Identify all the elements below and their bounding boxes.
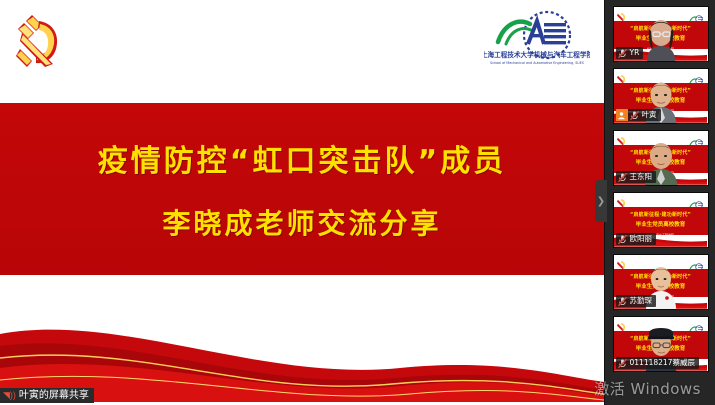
participant-name: 苏勤琛	[629, 295, 657, 307]
participant-tile[interactable]: “启航新征程·建功新时代” 毕业生党员离校教育 机械与汽车工程学院 欧阳丽	[613, 192, 709, 248]
host-badge-icon	[616, 109, 628, 121]
school-logo-icon	[689, 134, 705, 142]
screen-share-label: ◥)) 叶寅的屏幕共享	[0, 388, 94, 403]
collapse-filmstrip-button[interactable]: ❯	[595, 180, 607, 222]
page-subtitle: 李晓成老师交流分享	[162, 202, 441, 242]
participant-name-bar: 011118217蔡威辰	[616, 357, 699, 369]
mic-muted-icon	[616, 295, 629, 307]
svg-text:School of Mechanical and Autom: School of Mechanical and Automotive Engi…	[490, 61, 584, 65]
shared-screen[interactable]: 上海工程技术大学机械与汽车工程学院 School of Mechanical a…	[0, 0, 604, 405]
school-logo-icon	[689, 10, 705, 18]
meeting-window: 上海工程技术大学机械与汽车工程学院 School of Mechanical a…	[0, 0, 715, 405]
participant-name: YR	[629, 47, 644, 59]
mic-muted-icon	[616, 357, 629, 369]
presentation-slide: 上海工程技术大学机械与汽车工程学院 School of Mechanical a…	[0, 3, 604, 402]
page-title: 疫情防控“虹口突击队”成员	[98, 136, 506, 180]
party-emblem-icon	[617, 71, 626, 81]
share-label-text: 叶寅的屏幕共享	[19, 388, 89, 403]
participant-name: 欧阳丽	[629, 233, 657, 245]
party-emblem-icon	[617, 9, 626, 19]
tile-slide-line2: 毕业生党员离校教育	[614, 220, 708, 228]
participant-tile[interactable]: “启航新征程·建功新时代” 毕业生党员离校教育 机械与汽车工程学院	[613, 254, 709, 310]
school-logo-icon: 上海工程技术大学机械与汽车工程学院 School of Mechanical a…	[484, 8, 590, 70]
participant-tile[interactable]: “启航新征程·建功新时代” 毕业生党员离校教育 机械与汽车工程学院	[613, 130, 709, 186]
participant-name: 011118217蔡威辰	[629, 357, 699, 369]
participant-name-bar: 叶寅	[616, 109, 661, 121]
mic-muted-icon	[628, 109, 641, 121]
decorative-ribbon	[0, 272, 604, 402]
participant-name: 叶寅	[641, 109, 661, 121]
participant-name: 王东阳	[629, 171, 657, 183]
participant-name-bar: 王东阳	[616, 171, 657, 183]
participant-tile[interactable]: “启航新征程·建功新时代” 毕业生党员离校教育 机械与汽车工程学院	[613, 68, 709, 124]
participant-video	[642, 15, 680, 61]
participant-name-bar: 苏勤琛	[616, 295, 657, 307]
school-logo-icon	[689, 72, 705, 80]
slide-title-block: 疫情防控“虹口突击队”成员 李晓成老师交流分享	[0, 103, 604, 275]
participant-name-bar: YR	[616, 47, 644, 59]
mic-muted-icon	[616, 171, 629, 183]
party-emblem-icon	[617, 257, 626, 267]
party-emblem-icon	[12, 9, 68, 71]
party-emblem-icon	[617, 133, 626, 143]
school-logo-icon	[689, 258, 705, 266]
participant-tile[interactable]: “启航新征程·建功新时代” 毕业生党员离校教育 机械与汽车工程学院	[613, 6, 709, 62]
tile-slide-line1: “启航新征程·建功新时代”	[614, 211, 708, 218]
speaker-icon: ◥))	[3, 388, 16, 403]
school-logo-icon	[689, 196, 705, 204]
party-emblem-icon	[617, 195, 626, 205]
party-emblem-icon	[617, 319, 626, 329]
participant-filmstrip[interactable]: ❯ “启航新征程·建功新时代” 毕业生党员离校教育 机械与汽车工程学院	[604, 0, 715, 405]
chevron-right-icon: ❯	[597, 196, 605, 207]
participant-name-bar: 欧阳丽	[616, 233, 657, 245]
participant-tile[interactable]: “启航新征程·建功新时代” 毕业生党员离校教育 机械与汽车工程学院	[613, 316, 709, 372]
school-logo-icon	[689, 320, 705, 328]
mic-muted-icon	[616, 47, 629, 59]
svg-text:上海工程技术大学机械与汽车工程学院: 上海工程技术大学机械与汽车工程学院	[484, 50, 590, 59]
mic-muted-icon	[616, 233, 629, 245]
